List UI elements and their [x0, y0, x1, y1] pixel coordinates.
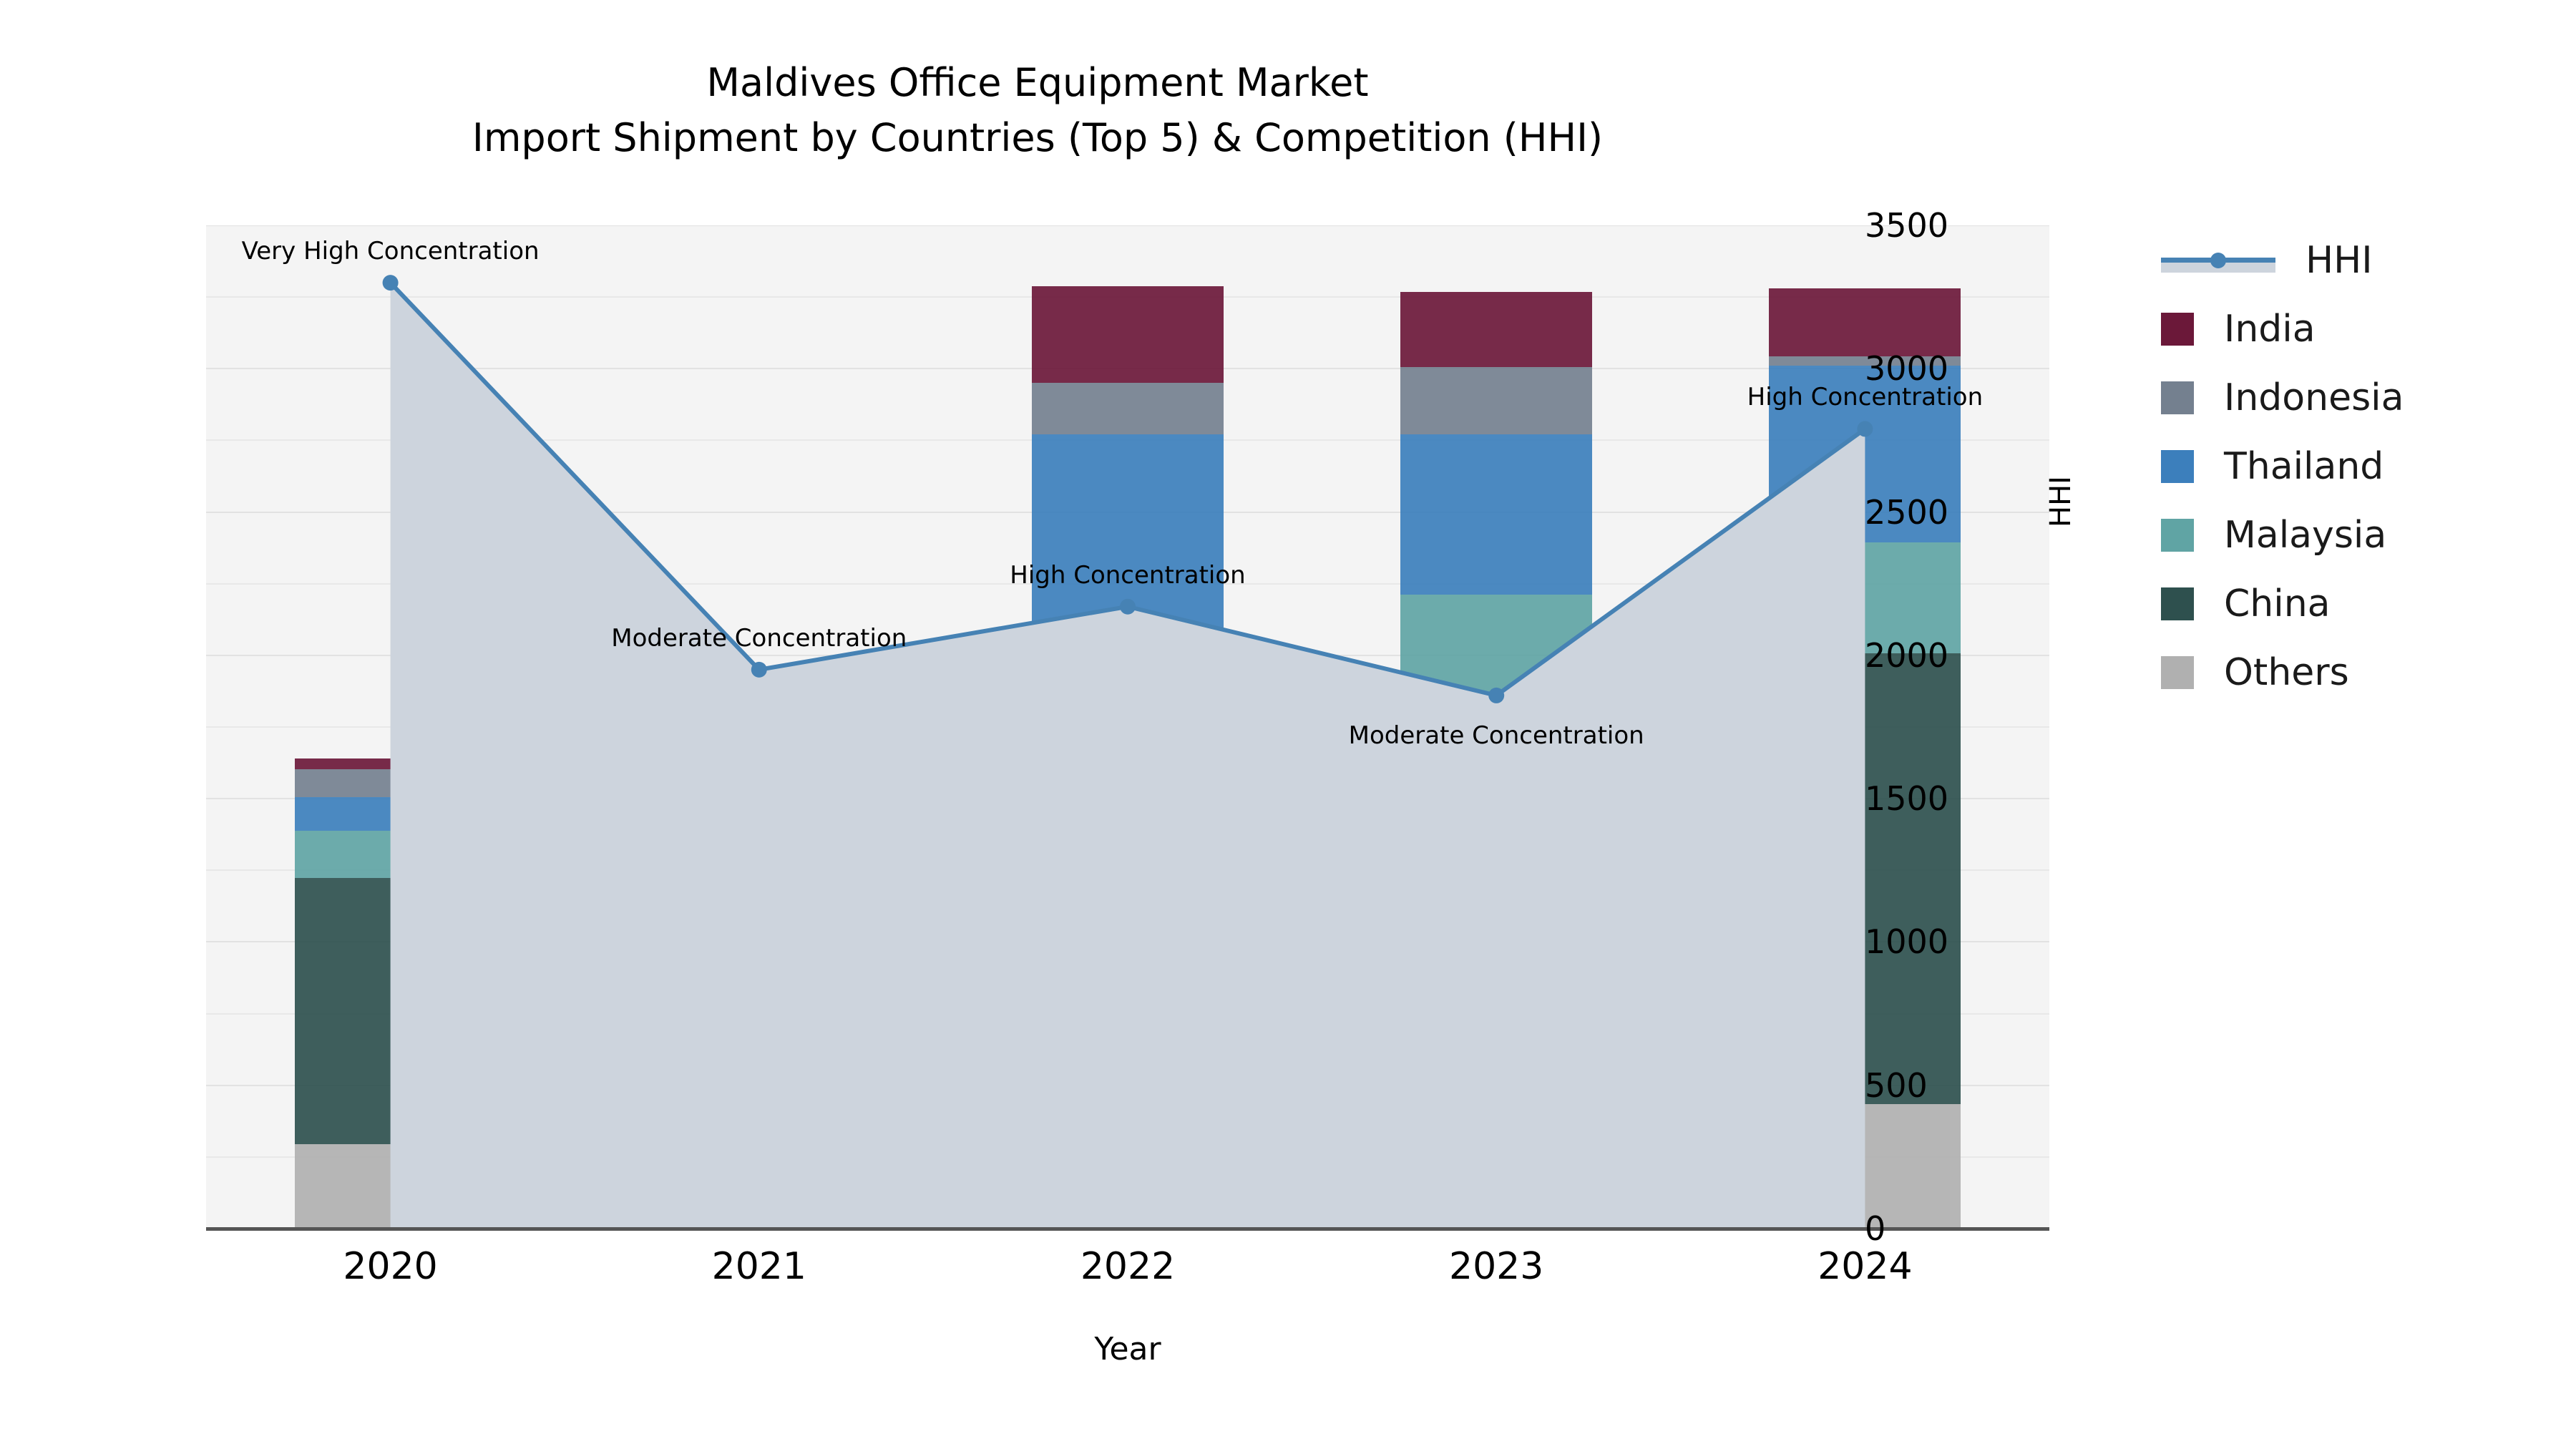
- bar-segment-china-2024[interactable]: [1769, 653, 1961, 1104]
- legend-color-swatch-icon: [2161, 381, 2194, 414]
- x-tick-2022: 2022: [1080, 1245, 1175, 1288]
- bar-segment-malaysia-2022[interactable]: [1032, 628, 1224, 736]
- chart-title-line2: Import Shipment by Countries (Top 5) & C…: [0, 111, 2075, 166]
- legend-line-swatch-icon: [2161, 244, 2275, 277]
- bar-segment-india-2024[interactable]: [1769, 288, 1961, 356]
- bar-segment-malaysia-2021[interactable]: [663, 783, 855, 872]
- y-axis-label-right: HHI: [2044, 476, 2077, 527]
- chart-title-line1: Maldives Office Equipment Market: [706, 60, 1368, 105]
- gridline: [206, 225, 2049, 226]
- bar-segment-thailand-2022[interactable]: [1032, 434, 1224, 628]
- legend-color-swatch-icon: [2161, 519, 2194, 552]
- bar-segment-china-2021[interactable]: [663, 872, 855, 1075]
- bar-segment-indonesia-2021[interactable]: [663, 732, 855, 756]
- legend-color-swatch-icon: [2161, 656, 2194, 689]
- plot-clip: [206, 225, 2049, 1229]
- bar-segment-china-2023[interactable]: [1400, 775, 1592, 1080]
- legend-color-swatch-icon: [2161, 450, 2194, 483]
- y-tick-right: 1000: [1865, 922, 1948, 961]
- legend-label: Malaysia: [2224, 514, 2386, 557]
- annotation-2024: High Concentration: [1747, 383, 1983, 411]
- bar-segment-others-2020[interactable]: [295, 1144, 487, 1229]
- bar-segment-others-2023[interactable]: [1400, 1080, 1592, 1229]
- legend-item-hhi[interactable]: HHI: [2161, 236, 2404, 285]
- legend-label: China: [2224, 582, 2331, 625]
- x-tick-2023: 2023: [1449, 1245, 1543, 1288]
- bar-segment-india-2022[interactable]: [1032, 286, 1224, 383]
- legend-label: HHI: [2306, 239, 2373, 282]
- y-tick-right: 500: [1865, 1066, 1928, 1105]
- bar-segment-thailand-2020[interactable]: [295, 797, 487, 831]
- y-tick-right: 3500: [1865, 206, 1948, 245]
- legend-item-malaysia[interactable]: Malaysia: [2161, 511, 2404, 560]
- bar-segment-indonesia-2020[interactable]: [295, 769, 487, 797]
- bar-segment-others-2022[interactable]: [1032, 1108, 1224, 1229]
- annotation-2023: Moderate Concentration: [1349, 721, 1644, 750]
- x-tick-2021: 2021: [712, 1245, 806, 1288]
- legend-label: Others: [2224, 651, 2349, 694]
- x-tick-2024: 2024: [1818, 1245, 1912, 1288]
- bar-segment-china-2022[interactable]: [1032, 736, 1224, 1108]
- bar-segment-indonesia-2023[interactable]: [1400, 367, 1592, 434]
- y-tick-right: 0: [1865, 1209, 1885, 1248]
- plot-area: [206, 225, 2049, 1229]
- legend-color-swatch-icon: [2161, 587, 2194, 620]
- x-tick-2020: 2020: [343, 1245, 437, 1288]
- legend-item-indonesia[interactable]: Indonesia: [2161, 374, 2404, 422]
- legend-item-thailand[interactable]: Thailand: [2161, 442, 2404, 491]
- y-tick-right: 2000: [1865, 636, 1948, 675]
- bar-segment-thailand-2021[interactable]: [663, 756, 855, 782]
- annotation-2020: Very High Concentration: [242, 237, 540, 265]
- bar-segment-india-2020[interactable]: [295, 758, 487, 769]
- chart-title: Maldives Office Equipment Market Import …: [0, 56, 2075, 165]
- legend-label: Indonesia: [2224, 376, 2404, 419]
- y-tick-right: 1500: [1865, 779, 1948, 818]
- x-axis-label: Year: [206, 1331, 2049, 1367]
- legend-item-india[interactable]: India: [2161, 305, 2404, 353]
- bar-segment-india-2021[interactable]: [663, 727, 855, 732]
- annotation-2021: Moderate Concentration: [611, 624, 907, 653]
- x-axis-line: [206, 1227, 2049, 1231]
- chart-canvas: Maldives Office Equipment Market Import …: [0, 0, 2576, 1449]
- bar-segment-india-2023[interactable]: [1400, 292, 1592, 367]
- bar-segment-others-2021[interactable]: [663, 1075, 855, 1229]
- legend-label: India: [2224, 308, 2316, 351]
- legend-item-china[interactable]: China: [2161, 580, 2404, 628]
- legend-item-others[interactable]: Others: [2161, 648, 2404, 697]
- legend-label: Thailand: [2224, 445, 2384, 488]
- bar-segment-malaysia-2020[interactable]: [295, 831, 487, 878]
- y-tick-right: 3000: [1865, 349, 1948, 388]
- chart-legend: HHIIndiaIndonesiaThailandMalaysiaChinaOt…: [2161, 236, 2404, 717]
- bar-segment-indonesia-2022[interactable]: [1032, 383, 1224, 434]
- bar-segment-china-2020[interactable]: [295, 878, 487, 1144]
- annotation-2022: High Concentration: [1010, 561, 1245, 590]
- bar-segment-thailand-2023[interactable]: [1400, 434, 1592, 595]
- y-tick-right: 2500: [1865, 493, 1948, 532]
- legend-color-swatch-icon: [2161, 313, 2194, 346]
